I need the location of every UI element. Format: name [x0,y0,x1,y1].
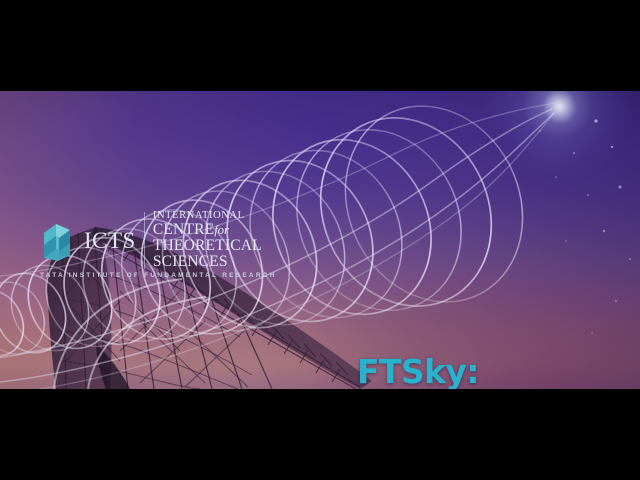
icts-logo: ICTS INTERNATIONAL CENTREfor THEORETICAL… [40,211,262,270]
logo-wordmark: INTERNATIONAL CENTREfor THEORETICAL SCIE… [153,211,262,270]
icts-cube-icon [40,221,78,261]
logo-line-sciences: SCIENCES [153,254,262,270]
letterbox-bar-bottom [0,389,640,480]
title-card: ICTS INTERNATIONAL CENTREfor THEORETICAL… [0,0,640,480]
logo-tagline: TATA INSTITUTE OF FUNDAMENTAL RESEARCH [40,272,277,279]
logo-line-centre-for: CENTREfor [153,222,262,238]
title-line-ftsky: FTSky: [357,355,637,388]
poster-frame: ICTS INTERNATIONAL CENTREfor THEORETICAL… [0,91,640,389]
logo-divider [144,212,145,269]
logo-acronym: ICTS [84,229,144,252]
logo-word-for: for [214,223,229,237]
logo-word-centre: CENTRE [153,221,214,238]
title-block: FTSky: Exploring Fast Radio Transients [357,355,637,389]
letterbox-bar-top [0,0,640,91]
logo-line-theoretical: THEORETICAL [153,238,262,254]
